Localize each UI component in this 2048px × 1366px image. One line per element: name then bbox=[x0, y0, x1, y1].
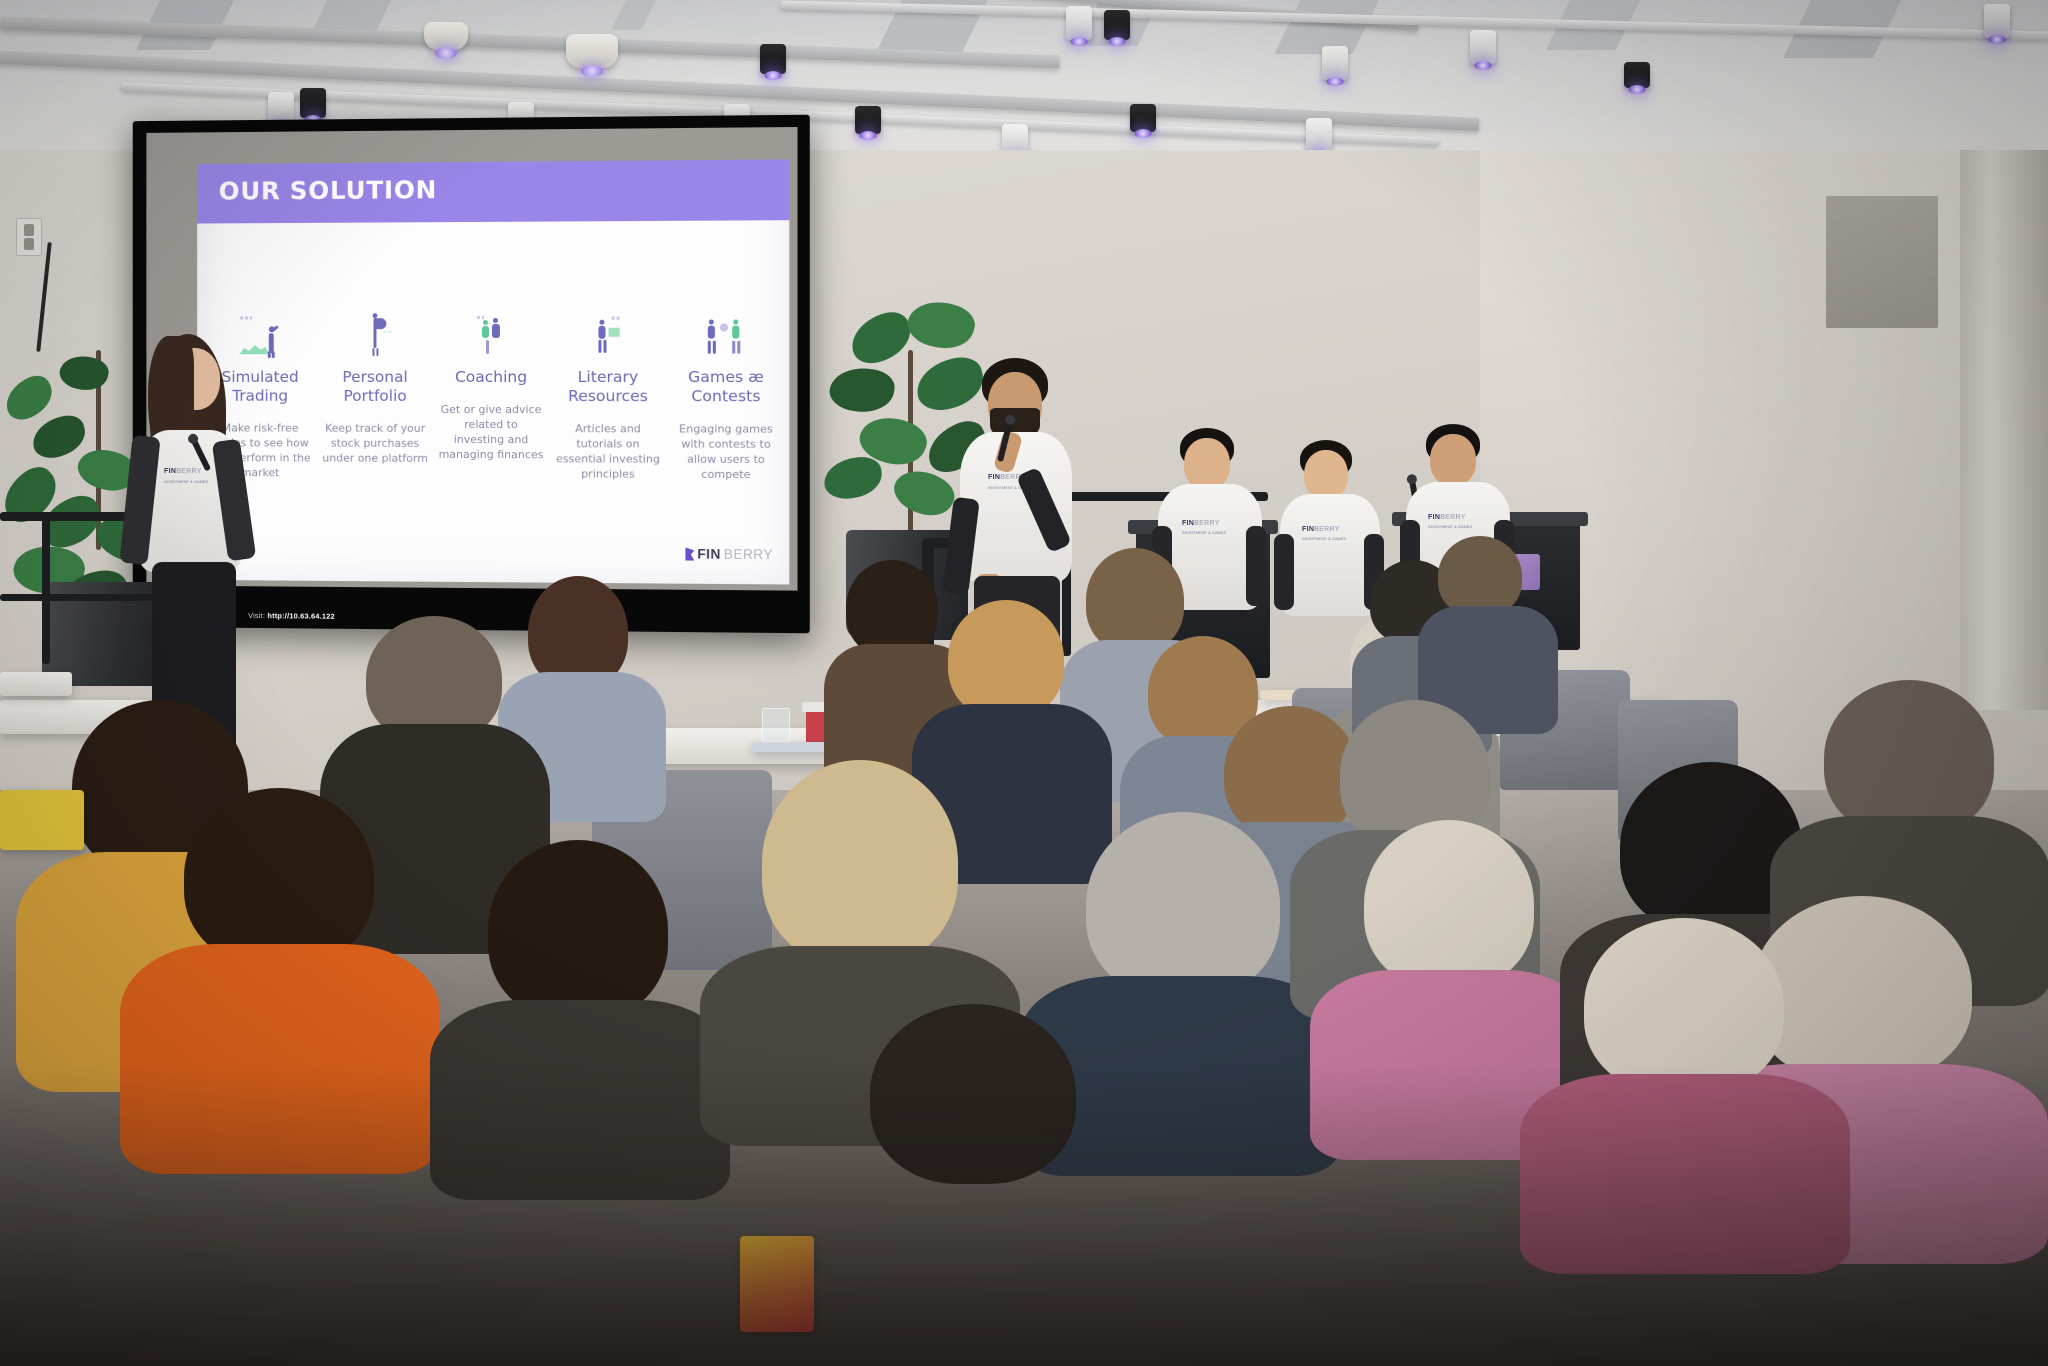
table-left-small bbox=[0, 672, 72, 696]
two-people-game-icon bbox=[672, 311, 780, 358]
drinking-glass bbox=[762, 708, 790, 742]
audience-member bbox=[430, 840, 730, 1140]
berry-leaf-icon bbox=[685, 547, 694, 560]
person-with-flag-icon bbox=[322, 312, 428, 358]
wall-pillar bbox=[1960, 150, 2048, 710]
track-light bbox=[1130, 104, 1156, 132]
two-people-coaching-icon bbox=[438, 312, 544, 358]
column-body: Articles and tutorials on essential inve… bbox=[554, 421, 661, 482]
solution-column-games-contests: Games æ Contests Engaging games with con… bbox=[667, 311, 785, 483]
track-light bbox=[1984, 4, 2010, 38]
heading-line-2: Contests bbox=[691, 387, 760, 405]
track-light bbox=[1306, 118, 1332, 152]
heading-line-2: Portfolio bbox=[343, 387, 406, 405]
heading-line-1: Personal bbox=[342, 368, 407, 386]
solution-column-coaching: Coaching Get or give advice related to i… bbox=[433, 312, 549, 482]
solution-column-personal-portfolio: Personal Portfolio Keep track of your st… bbox=[317, 312, 432, 481]
column-heading: Personal Portfolio bbox=[322, 368, 428, 406]
smoke-detector-icon bbox=[566, 34, 618, 68]
heading-line-2: Resources bbox=[568, 387, 648, 405]
logo-text-light: BERRY bbox=[724, 547, 773, 562]
track-light bbox=[1470, 30, 1496, 64]
column-body: Get or give advice related to investing … bbox=[438, 402, 544, 463]
presentation-slide: OUR SOLUTION bbox=[197, 159, 789, 584]
shirt-tagline: INVESTMENT & GAMES bbox=[1182, 531, 1226, 535]
track-light bbox=[1104, 10, 1130, 40]
head bbox=[1184, 438, 1230, 490]
audience-member bbox=[1520, 918, 1850, 1218]
track-light bbox=[760, 44, 786, 74]
shirt-tagline: INVESTMENT & GAMES bbox=[1428, 525, 1472, 529]
presentation-room-scene: OUR SOLUTION bbox=[0, 0, 2048, 1366]
heading-line-1: Literary bbox=[578, 368, 639, 386]
shirt-brand: FINBERRY bbox=[1182, 520, 1220, 527]
shirt-brand: FINBERRY bbox=[1428, 514, 1466, 521]
yellow-object-left bbox=[0, 790, 84, 850]
audience-member bbox=[1418, 536, 1558, 726]
shirt-tagline: INVESTMENT & GAMES bbox=[1302, 537, 1346, 541]
arm-right bbox=[1246, 526, 1266, 606]
solution-column-literary-resources: Literary Resources Articles and tutorial… bbox=[549, 312, 666, 483]
sticky-notes bbox=[740, 1236, 814, 1332]
logo-text-bold: FIN bbox=[697, 546, 720, 561]
stage-railing-left-post bbox=[42, 518, 50, 664]
track-light bbox=[1322, 46, 1348, 80]
audience-member bbox=[120, 788, 440, 1108]
presenter-left-woman: FINBERRY INVESTMENT & GAMES bbox=[112, 330, 282, 760]
finberry-logo: FINBERRY bbox=[685, 546, 773, 562]
acoustic-panel bbox=[611, 0, 659, 30]
arm-left bbox=[1274, 534, 1294, 610]
head bbox=[1430, 434, 1476, 486]
track-light bbox=[1066, 6, 1092, 40]
column-heading: Literary Resources bbox=[554, 368, 661, 406]
column-heading: Games æ Contests bbox=[672, 368, 780, 406]
shirt-brand: FINBERRY bbox=[164, 468, 202, 475]
track-light bbox=[300, 88, 326, 118]
shirt-brand: FINBERRY bbox=[1302, 526, 1340, 533]
smoke-detector-icon bbox=[424, 22, 468, 50]
heading-line-1: Games æ bbox=[688, 368, 764, 386]
slide-title: OUR SOLUTION bbox=[219, 175, 437, 205]
track-light bbox=[1624, 62, 1650, 88]
head bbox=[1304, 450, 1348, 500]
wall-niche bbox=[1826, 196, 1938, 328]
column-heading: Coaching bbox=[438, 368, 544, 387]
column-body: Engaging games with contests to allow us… bbox=[672, 421, 780, 483]
column-body: Keep track of your stock purchases under… bbox=[322, 421, 428, 467]
shirt-tagline: INVESTMENT & GAMES bbox=[164, 480, 208, 484]
track-light bbox=[855, 106, 881, 134]
heading-line-1: Coaching bbox=[455, 368, 527, 386]
audience-member bbox=[800, 1004, 1140, 1244]
solution-columns: Simulated Trading Make risk-free trades … bbox=[203, 311, 785, 483]
person-reading-book-icon bbox=[554, 312, 661, 358]
